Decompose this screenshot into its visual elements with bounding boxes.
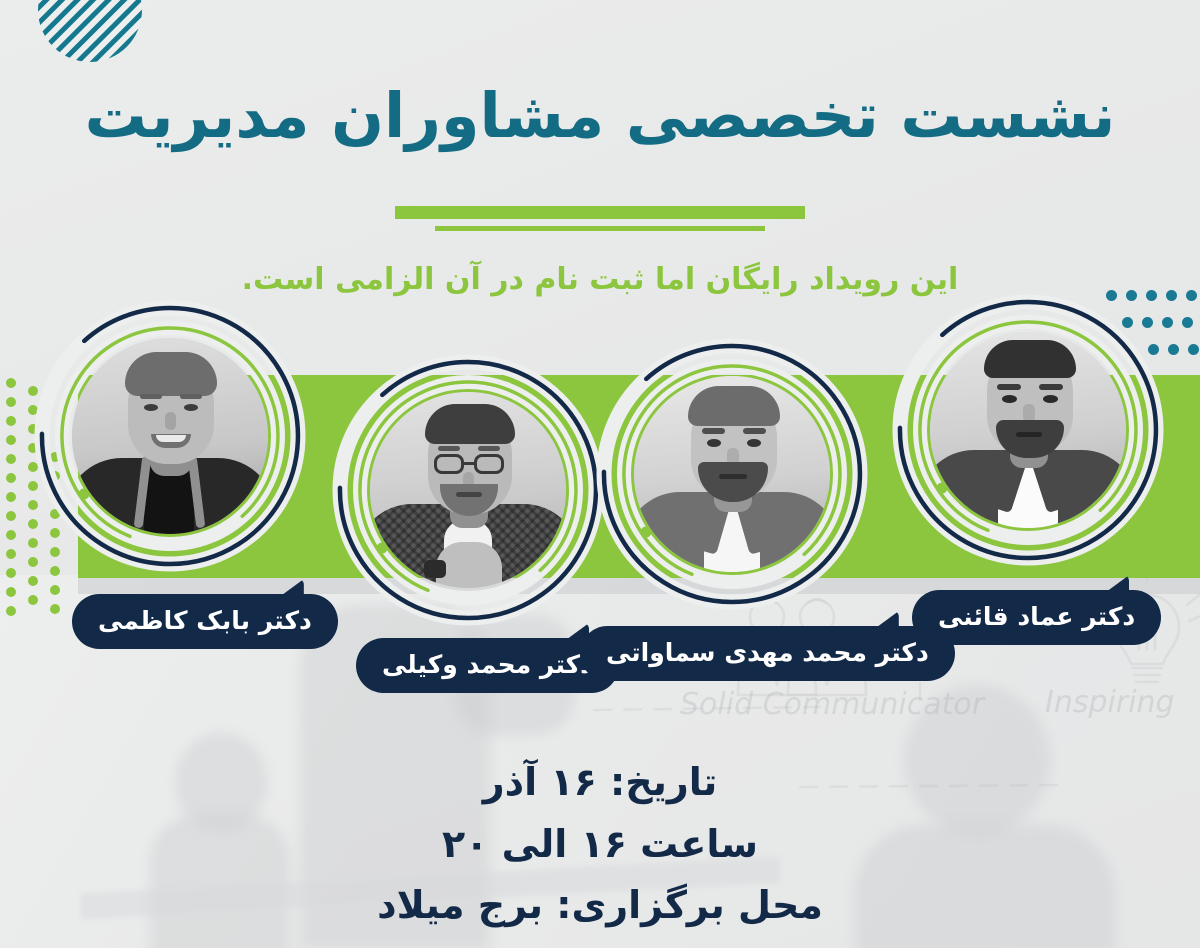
speaker-name: دکتر محمد مهدی سماواتی — [606, 638, 929, 667]
speaker-card[interactable]: دکتر محمد مهدی سماواتی — [594, 336, 870, 612]
event-venue: محل برگزاری: برج میلاد — [0, 875, 1200, 937]
avatar — [930, 332, 1126, 528]
avatar — [634, 376, 830, 572]
badge-tail — [1099, 575, 1129, 597]
speaker-card[interactable]: دکتر محمد وکیلی — [330, 352, 606, 628]
speaker-name-badge: دکتر محمد وکیلی — [356, 638, 619, 693]
speaker-card[interactable]: دکتر بابک کاظمی — [32, 298, 308, 574]
speaker-name: دکتر بابک کاظمی — [98, 606, 312, 635]
badge-tail — [869, 611, 899, 633]
badge-tail — [274, 579, 304, 601]
speaker-name-badge: دکتر عماد قائنی — [912, 590, 1161, 645]
avatar — [72, 338, 268, 534]
event-time: ساعت ۱۶ الی ۲۰ — [0, 814, 1200, 876]
speaker-name-badge: دکتر بابک کاظمی — [72, 594, 338, 649]
speaker-name: دکتر محمد وکیلی — [382, 650, 593, 679]
avatar — [370, 392, 566, 588]
speaker-card[interactable]: دکتر عماد قائنی — [890, 292, 1166, 568]
event-details: تاریخ: ۱۶ آذر ساعت ۱۶ الی ۲۰ محل برگزاری… — [0, 752, 1200, 937]
speaker-name-badge: دکتر محمد مهدی سماواتی — [580, 626, 955, 681]
speaker-name: دکتر عماد قائنی — [938, 602, 1135, 631]
speaker-list: دکتر بابک کاظمی — [0, 0, 1200, 720]
event-date: تاریخ: ۱۶ آذر — [0, 752, 1200, 814]
event-poster: Solid Communicator Inspiring نشست تخصصی … — [0, 0, 1200, 948]
